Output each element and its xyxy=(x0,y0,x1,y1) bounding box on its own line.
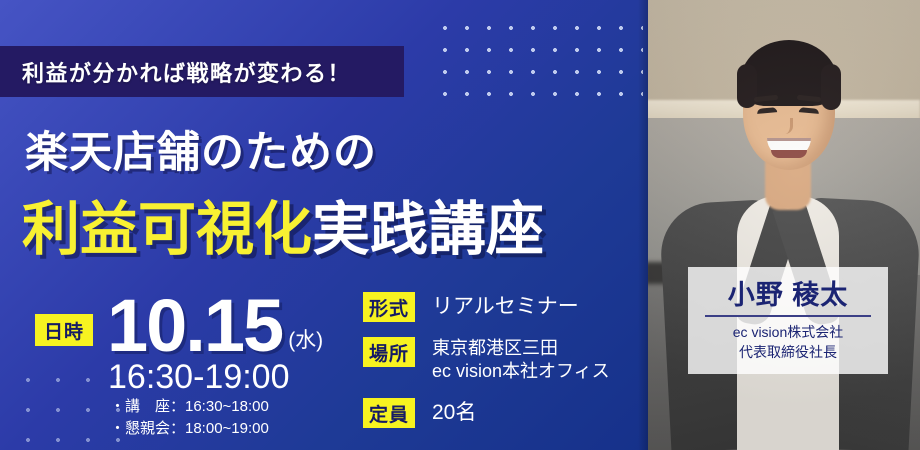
date-weekday: (水) xyxy=(288,324,323,354)
badge-venue: 場所 xyxy=(363,337,415,367)
info-row-venue: 場所 東京都港区三田 ec vision本社オフィス xyxy=(363,337,633,383)
time-breakdown-lecture: ・講 座：16:30~18:00 xyxy=(110,396,269,418)
speaker-name: 小野 稜太 xyxy=(728,273,849,312)
title-highlight: 利益可視化 xyxy=(22,197,312,262)
speaker-role: 代表取締役社長 xyxy=(739,342,837,362)
badge-capacity: 定員 xyxy=(363,398,415,428)
badge-datetime: 日時 xyxy=(35,314,93,346)
tagline-ribbon: 利益が分かれば戦略が変わる！ xyxy=(0,46,404,97)
badge-format: 形式 xyxy=(363,292,415,322)
title-line-2: 利益可視化実践講座 xyxy=(22,182,544,266)
blue-panel: 利益が分かれば戦略が変わる！ 楽天店舗のための 利益可視化実践講座 日時 10.… xyxy=(0,0,648,450)
speaker-card-divider xyxy=(705,315,871,317)
speaker-company: ec vision株式会社 xyxy=(733,322,843,342)
time-breakdown: ・講 座：16:30~18:00 ・懇親会：18:00~19:00 xyxy=(110,396,269,440)
speaker-card: 小野 稜太 ec vision株式会社 代表取締役社長 xyxy=(688,267,888,374)
info-row-format: 形式 リアルセミナー xyxy=(363,292,633,322)
title-rest: 実践講座 xyxy=(312,197,544,262)
info-value-format: リアルセミナー xyxy=(432,292,579,320)
seminar-banner: 利益が分かれば戦略が変わる！ 楽天店舗のための 利益可視化実践講座 日時 10.… xyxy=(0,0,920,450)
time-range: 16:30-19:00 xyxy=(108,358,290,397)
date-value-group: 10.15 (水) xyxy=(107,292,323,360)
photo-vignette xyxy=(645,0,920,450)
info-row-capacity: 定員 20名 xyxy=(363,398,633,428)
title-line-1: 楽天店舗のための xyxy=(25,118,377,180)
info-list: 形式 リアルセミナー 場所 東京都港区三田 ec vision本社オフィス 定員… xyxy=(363,292,633,443)
info-value-capacity: 20名 xyxy=(432,398,476,426)
date-day: 10.15 xyxy=(107,292,282,360)
info-value-venue: 東京都港区三田 ec vision本社オフィス xyxy=(432,337,610,383)
tagline-text: 利益が分かれば戦略が変わる！ xyxy=(0,56,351,88)
date-block: 日時 10.15 (水) xyxy=(35,292,323,360)
speaker-photo xyxy=(645,0,920,450)
time-breakdown-social: ・懇親会：18:00~19:00 xyxy=(110,418,269,440)
dot-grid-top-right xyxy=(431,14,643,106)
